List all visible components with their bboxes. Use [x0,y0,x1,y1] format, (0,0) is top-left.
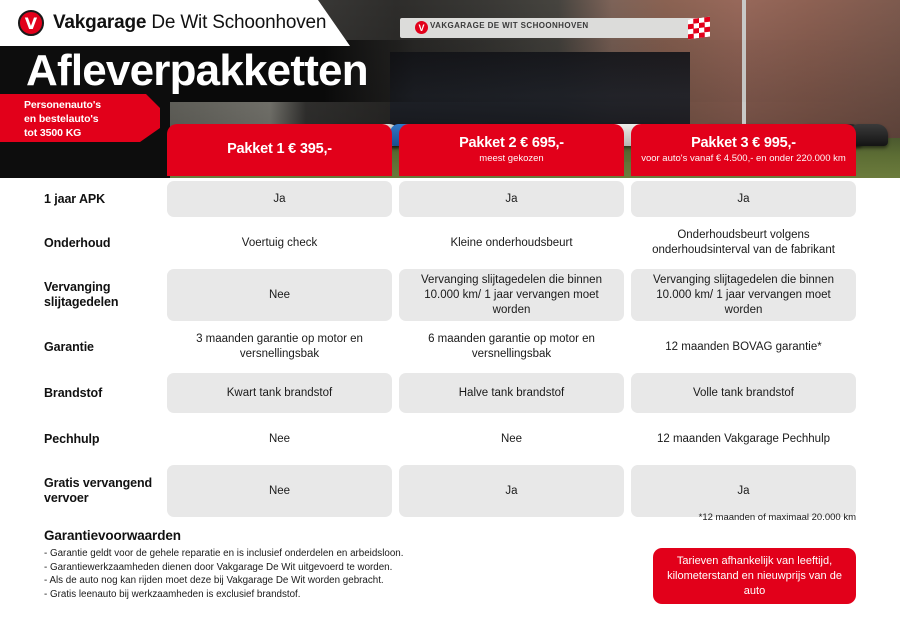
row-cells: Kwart tank brandstofHalve tank brandstof… [167,370,900,416]
table-row: PechhulpNeeNee12 maanden Vakgarage Pechh… [0,416,900,462]
photo-sign-text: VAKGARAGE DE WIT SCHOONHOVEN [430,21,589,30]
warranty-terms-title: Garantievoorwaarden [44,528,514,543]
page-title: Afleverpakketten [26,45,368,97]
table-footnote: *12 maanden of maximaal 20.000 km [699,512,856,523]
table-cell: Volle tank brandstof [631,373,856,413]
table-cell: 6 maanden garantie op motor en versnelli… [399,327,624,367]
warranty-term-item: - Als de auto nog kan rijden moet deze b… [44,574,514,588]
row-label: Brandstof [0,370,167,416]
row-label: Garantie [0,324,167,370]
brand-name-rest: De Wit Schoonhoven [151,12,326,33]
package-subtitle-2: meest gekozen [479,153,543,165]
row-label: Onderhoud [0,220,167,266]
warranty-terms-list: - Garantie geldt voor de gehele reparati… [44,547,514,601]
warranty-term-item: - Gratis leenauto bij werkzaamheden is e… [44,588,514,602]
table-cell: Nee [399,419,624,459]
table-cell: Ja [399,465,624,517]
table-cell: Voertuig check [167,223,392,263]
table-cell: 3 maanden garantie op motor en versnelli… [167,327,392,367]
package-subtitle-3: voor auto's vanaf € 4.500,- en onder 220… [641,153,846,165]
row-cells: NeeNee12 maanden Vakgarage Pechhulp [167,416,900,462]
package-header-3[interactable]: Pakket 3 € 995,- voor auto's vanaf € 4.5… [631,124,856,176]
table-cell: Ja [167,181,392,217]
package-header-1[interactable]: Pakket 1 € 395,- [167,124,392,176]
package-title-2: Pakket 2 € 695,- [459,135,564,152]
table-cell: Kleine onderhoudsbeurt [399,223,624,263]
row-cells: Voertuig checkKleine onderhoudsbeurtOnde… [167,220,900,266]
brand-name-bold: Vakgarage [53,12,146,33]
table-cell: Nee [167,269,392,321]
vakgarage-logo-icon [18,10,44,36]
brand-logo-plate: Vakgarage De Wit Schoonhoven [0,0,350,46]
hero-banner: VAKGARAGE DE WIT SCHOONHOVEN Vakgarage D… [0,0,900,178]
warranty-terms: Garantievoorwaarden - Garantie geldt voo… [44,528,514,601]
table-cell: Ja [631,465,856,517]
table-cell: Onderhoudsbeurt volgens onderhoudsinterv… [631,223,856,263]
table-row: BrandstofKwart tank brandstofHalve tank … [0,370,900,416]
package-title-1: Pakket 1 € 395,- [227,141,332,158]
table-cell: Vervanging slijtagedelen die binnen 10.0… [631,269,856,321]
tariff-note: Tarieven afhankelijk van leeftijd, kilom… [653,548,856,604]
row-cells: JaJaJa [167,178,900,220]
table-cell: Ja [631,181,856,217]
table-cell: 12 maanden BOVAG garantie* [631,327,856,367]
table-cell: Vervanging slijtagedelen die binnen 10.0… [399,269,624,321]
table-cell: 12 maanden Vakgarage Pechhulp [631,419,856,459]
package-headers: Pakket 1 € 395,- Pakket 2 € 695,- meest … [0,124,900,178]
brand-name: Vakgarage De Wit Schoonhoven [53,12,326,34]
table-cell: Ja [399,181,624,217]
package-title-3: Pakket 3 € 995,- [691,135,796,152]
row-cells: 3 maanden garantie op motor en versnelli… [167,324,900,370]
warranty-term-item: - Garantie geldt voor de gehele reparati… [44,547,514,561]
row-label: Pechhulp [0,416,167,462]
warranty-term-item: - Garantiewerkzaamheden dienen door Vakg… [44,561,514,575]
table-cell: Nee [167,419,392,459]
table-row: Vervanging slijtagedelenNeeVervanging sl… [0,266,900,324]
table-row: Garantie3 maanden garantie op motor en v… [0,324,900,370]
row-label: 1 jaar APK [0,178,167,220]
row-label: Vervanging slijtagedelen [0,266,167,324]
table-row: OnderhoudVoertuig checkKleine onderhouds… [0,220,900,266]
table-row: 1 jaar APKJaJaJa [0,178,900,220]
package-header-2[interactable]: Pakket 2 € 695,- meest gekozen [399,124,624,176]
table-cell: Nee [167,465,392,517]
package-comparison-table: 1 jaar APKJaJaJaOnderhoudVoertuig checkK… [0,178,900,520]
photo-sign-logo-icon [415,21,428,34]
table-cell: Kwart tank brandstof [167,373,392,413]
row-cells: NeeVervanging slijtagedelen die binnen 1… [167,266,900,324]
segment-badge-line-1: Personenauto's [24,98,160,112]
table-cell: Halve tank brandstof [399,373,624,413]
row-label: Gratis vervangend vervoer [0,462,167,520]
checker-flag-icon [688,17,710,40]
